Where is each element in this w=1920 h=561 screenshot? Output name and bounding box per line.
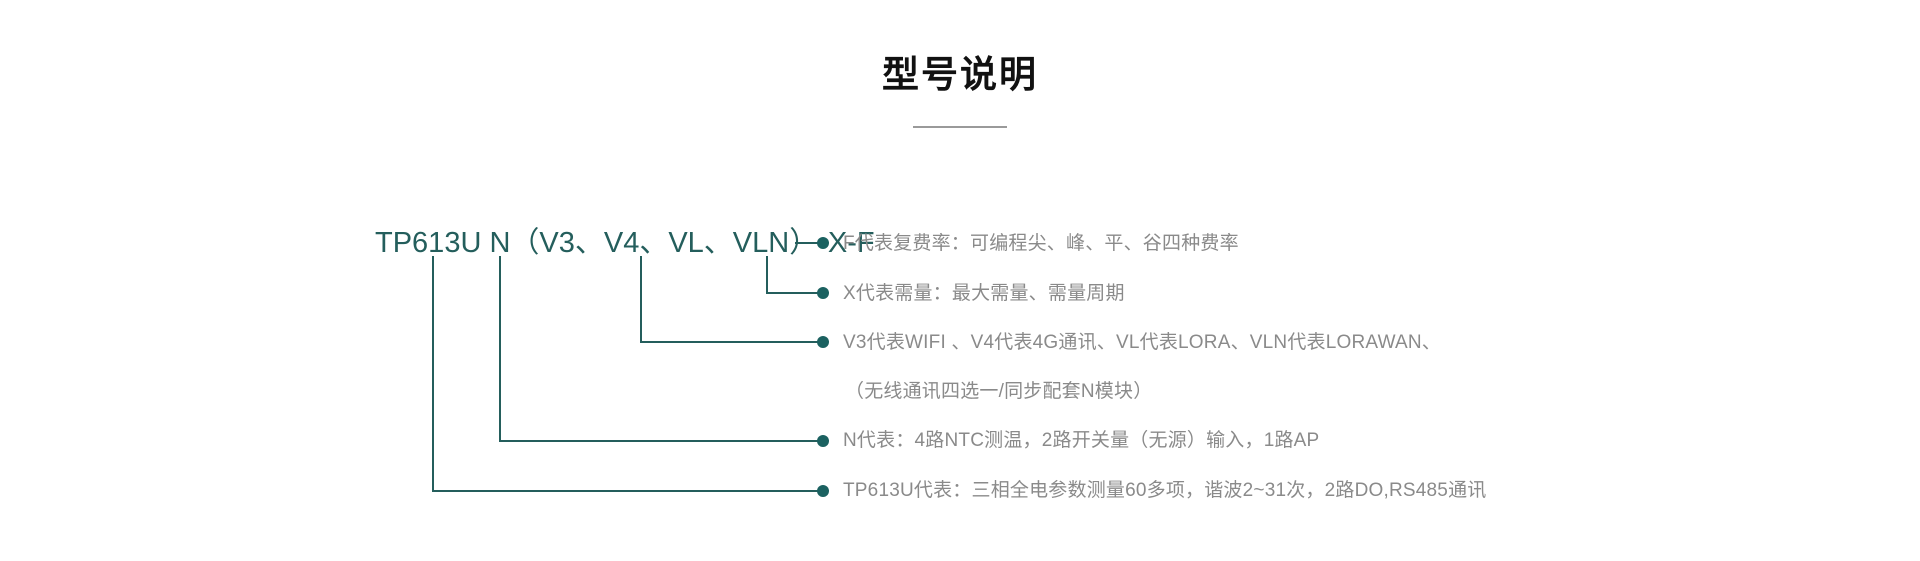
model-code-label: TP613U N（V3、V4、VL、VLN）-X-F	[375, 224, 875, 262]
dot-tp613u	[817, 485, 829, 497]
connector-dots	[817, 237, 829, 497]
dot-n	[817, 435, 829, 447]
connector-tp613u	[433, 256, 818, 491]
note-v3: V3代表WIFI 、V4代表4G通讯、VL代表LORA、VLN代表LORAWAN…	[843, 330, 1441, 356]
note-n: N代表：4路NTC测温，2路开关量（无源）输入，1路AP	[843, 428, 1319, 454]
note-f: F代表复费率：可编程尖、峰、平、谷四种费率	[843, 231, 1239, 257]
note-v3-cont: （无线通讯四选一/同步配套N模块）	[845, 379, 1152, 405]
note-tp613u: TP613U代表：三相全电参数测量60多项，谐波2~31次，2路DO,RS485…	[843, 478, 1486, 504]
dot-v3	[817, 336, 829, 348]
model-number-diagram: TP613U N（V3、V4、VL、VLN）-X-F F代表复费率：可编程尖、峰…	[0, 0, 1920, 561]
connector-n	[500, 256, 818, 441]
connector-v3	[641, 256, 818, 342]
dot-x	[817, 287, 829, 299]
note-x: X代表需量：最大需量、需量周期	[843, 281, 1125, 307]
